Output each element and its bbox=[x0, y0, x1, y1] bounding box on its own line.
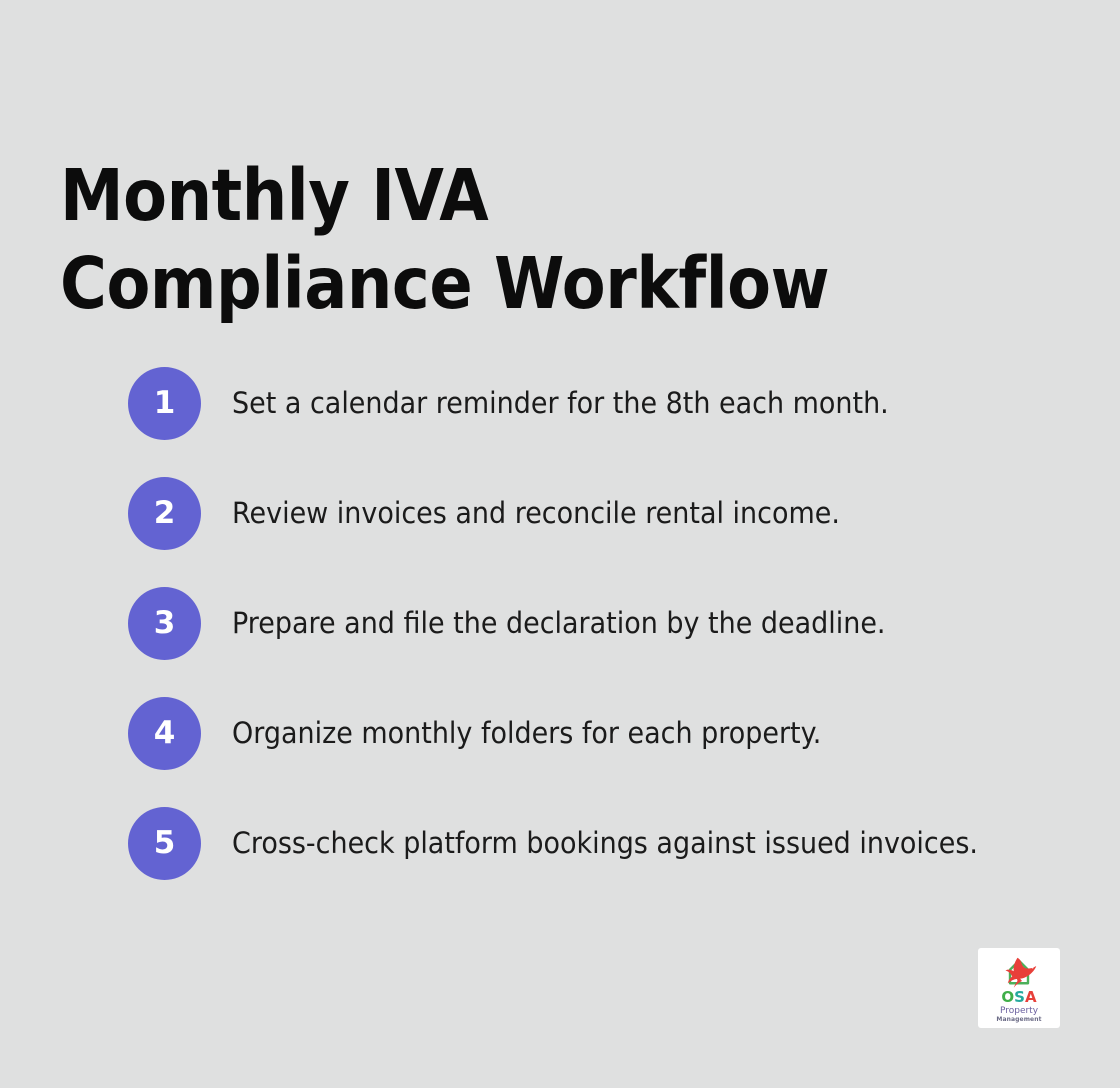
step-number-label: 1 bbox=[154, 388, 176, 419]
step-number-badge: 5 bbox=[128, 807, 201, 880]
step-description: Organize monthly folders for each proper… bbox=[232, 697, 1028, 770]
osa-letter-o: O bbox=[1001, 990, 1014, 1005]
list-item: 5 Cross-check platform bookings against … bbox=[128, 807, 1088, 917]
osa-house-dove-icon bbox=[995, 953, 1043, 991]
logo-tagline-property: Property bbox=[1000, 1006, 1038, 1016]
osa-logo-card: O S A Property Management bbox=[978, 948, 1060, 1028]
osa-letter-s: S bbox=[1014, 990, 1025, 1005]
step-description: Prepare and file the declaration by the … bbox=[232, 587, 1028, 660]
step-number-label: 4 bbox=[154, 718, 176, 749]
step-number-badge: 1 bbox=[128, 367, 201, 440]
list-item: 1 Set a calendar reminder for the 8th ea… bbox=[128, 367, 1088, 477]
step-description: Set a calendar reminder for the 8th each… bbox=[232, 367, 1028, 440]
page-title: Monthly IVA Compliance Workflow bbox=[60, 152, 870, 328]
step-number-badge: 4 bbox=[128, 697, 201, 770]
step-number-label: 3 bbox=[154, 608, 176, 639]
list-item: 4 Organize monthly folders for each prop… bbox=[128, 697, 1088, 807]
step-number-badge: 2 bbox=[128, 477, 201, 550]
list-item: 3 Prepare and file the declaration by th… bbox=[128, 587, 1088, 697]
step-number-label: 5 bbox=[154, 828, 176, 859]
step-number-badge: 3 bbox=[128, 587, 201, 660]
infographic-canvas: Monthly IVA Compliance Workflow 1 Set a … bbox=[0, 0, 1120, 1088]
logo-tagline-management: Management bbox=[996, 1016, 1041, 1023]
osa-wordmark: O S A bbox=[1001, 990, 1036, 1005]
step-list: 1 Set a calendar reminder for the 8th ea… bbox=[128, 367, 1088, 917]
list-item: 2 Review invoices and reconcile rental i… bbox=[128, 477, 1088, 587]
step-description: Review invoices and reconcile rental inc… bbox=[232, 477, 1028, 550]
step-description: Cross-check platform bookings against is… bbox=[232, 807, 1028, 880]
step-number-label: 2 bbox=[154, 498, 176, 529]
osa-letter-a: A bbox=[1025, 990, 1037, 1005]
